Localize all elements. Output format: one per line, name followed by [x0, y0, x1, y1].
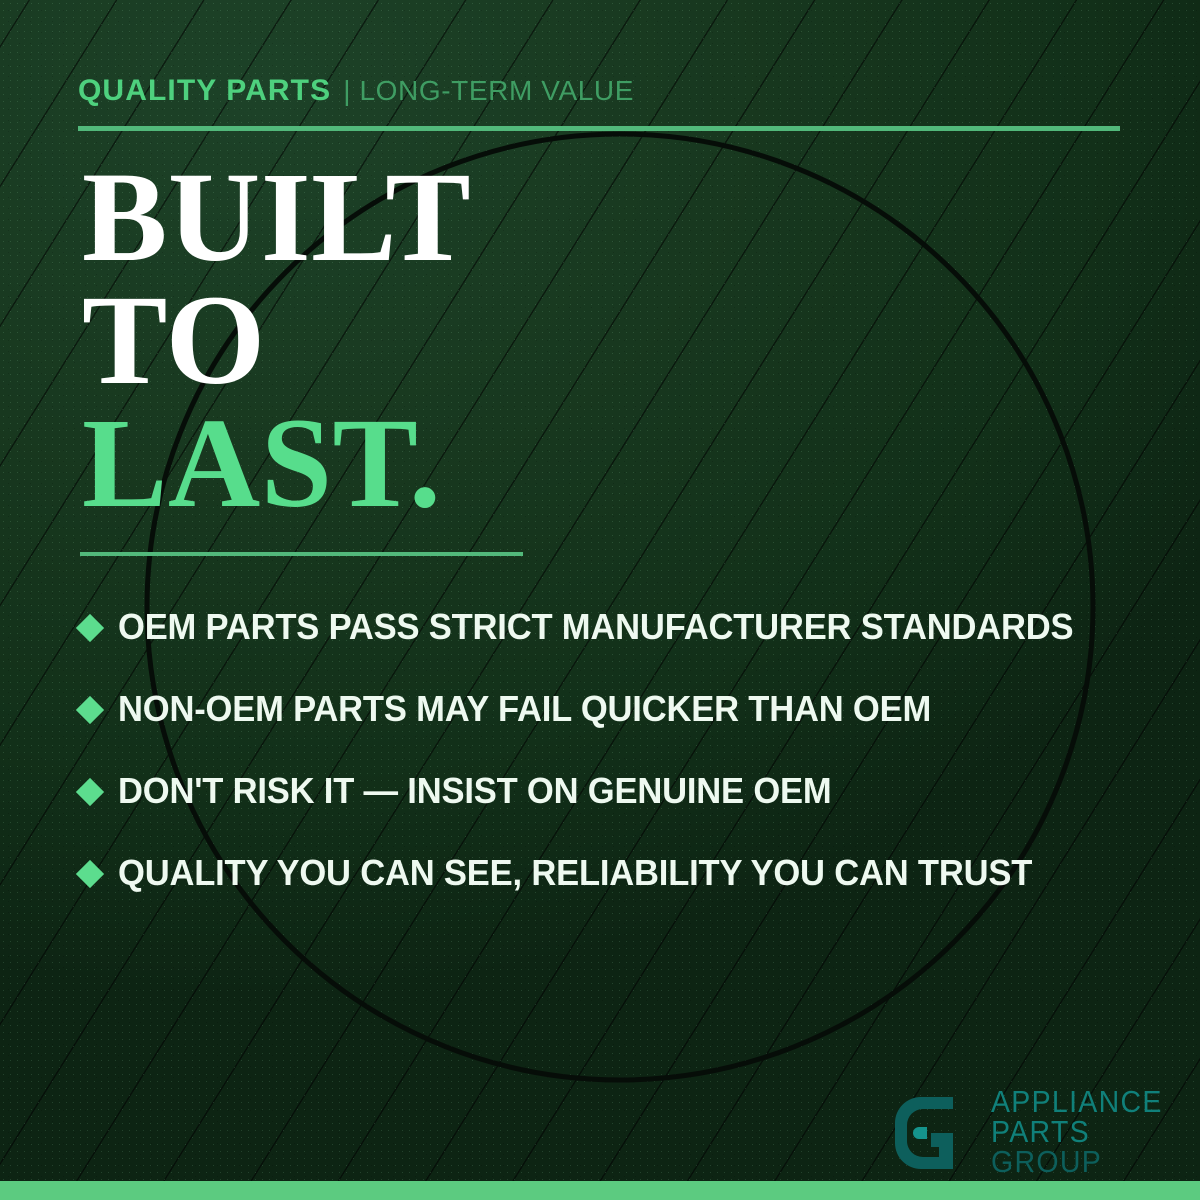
header-divider-rule — [78, 126, 1120, 131]
benefits-list: OEM PARTS PASS STRICT MANUFACTURER STAND… — [80, 586, 1160, 914]
brand-logo-text: APPLIANCE PARTS GROUP — [991, 1087, 1178, 1177]
diamond-bullet-icon — [76, 859, 104, 887]
list-item-label: QUALITY YOU CAN SEE, RELIABILITY YOU CAN… — [118, 852, 1032, 894]
brand-logo-line-2: PARTS — [991, 1117, 1163, 1147]
list-item: QUALITY YOU CAN SEE, RELIABILITY YOU CAN… — [80, 832, 1160, 914]
headline-line-1: BUILT — [82, 156, 471, 279]
eyebrow-separator: | — [343, 75, 350, 107]
promo-poster: QUALITY PARTS | LONG-TERM VALUE BUILT TO… — [0, 0, 1200, 1200]
list-item-label: NON-OEM PARTS MAY FAIL QUICKER THAN OEM — [118, 688, 931, 730]
list-item: DON'T RISK IT — INSIST ON GENUINE OEM — [80, 750, 1160, 832]
diamond-bullet-icon — [76, 695, 104, 723]
brand-logo-line-1: APPLIANCE — [991, 1087, 1163, 1117]
diamond-bullet-icon — [76, 777, 104, 805]
headline-line-2: TO — [82, 279, 471, 402]
list-item-label: OEM PARTS PASS STRICT MANUFACTURER STAND… — [118, 606, 1073, 648]
eyebrow-strong-text: QUALITY PARTS — [78, 74, 331, 108]
headline-line-3: LAST. — [82, 402, 471, 525]
eyebrow-kicker: QUALITY PARTS | LONG-TERM VALUE — [78, 74, 634, 108]
headline-divider-rule — [80, 552, 523, 556]
list-item: NON-OEM PARTS MAY FAIL QUICKER THAN OEM — [80, 668, 1160, 750]
brand-logo: APPLIANCE PARTS GROUP — [891, 1087, 1178, 1180]
bottom-accent-bar — [0, 1181, 1200, 1200]
page-title: BUILT TO LAST. — [82, 156, 471, 525]
appliance-parts-group-g-icon — [891, 1091, 977, 1180]
brand-logo-line-3: GROUP — [991, 1147, 1163, 1177]
list-item: OEM PARTS PASS STRICT MANUFACTURER STAND… — [80, 586, 1160, 668]
diamond-bullet-icon — [76, 613, 104, 641]
eyebrow-light-text: LONG-TERM VALUE — [359, 75, 634, 107]
list-item-label: DON'T RISK IT — INSIST ON GENUINE OEM — [118, 770, 831, 812]
